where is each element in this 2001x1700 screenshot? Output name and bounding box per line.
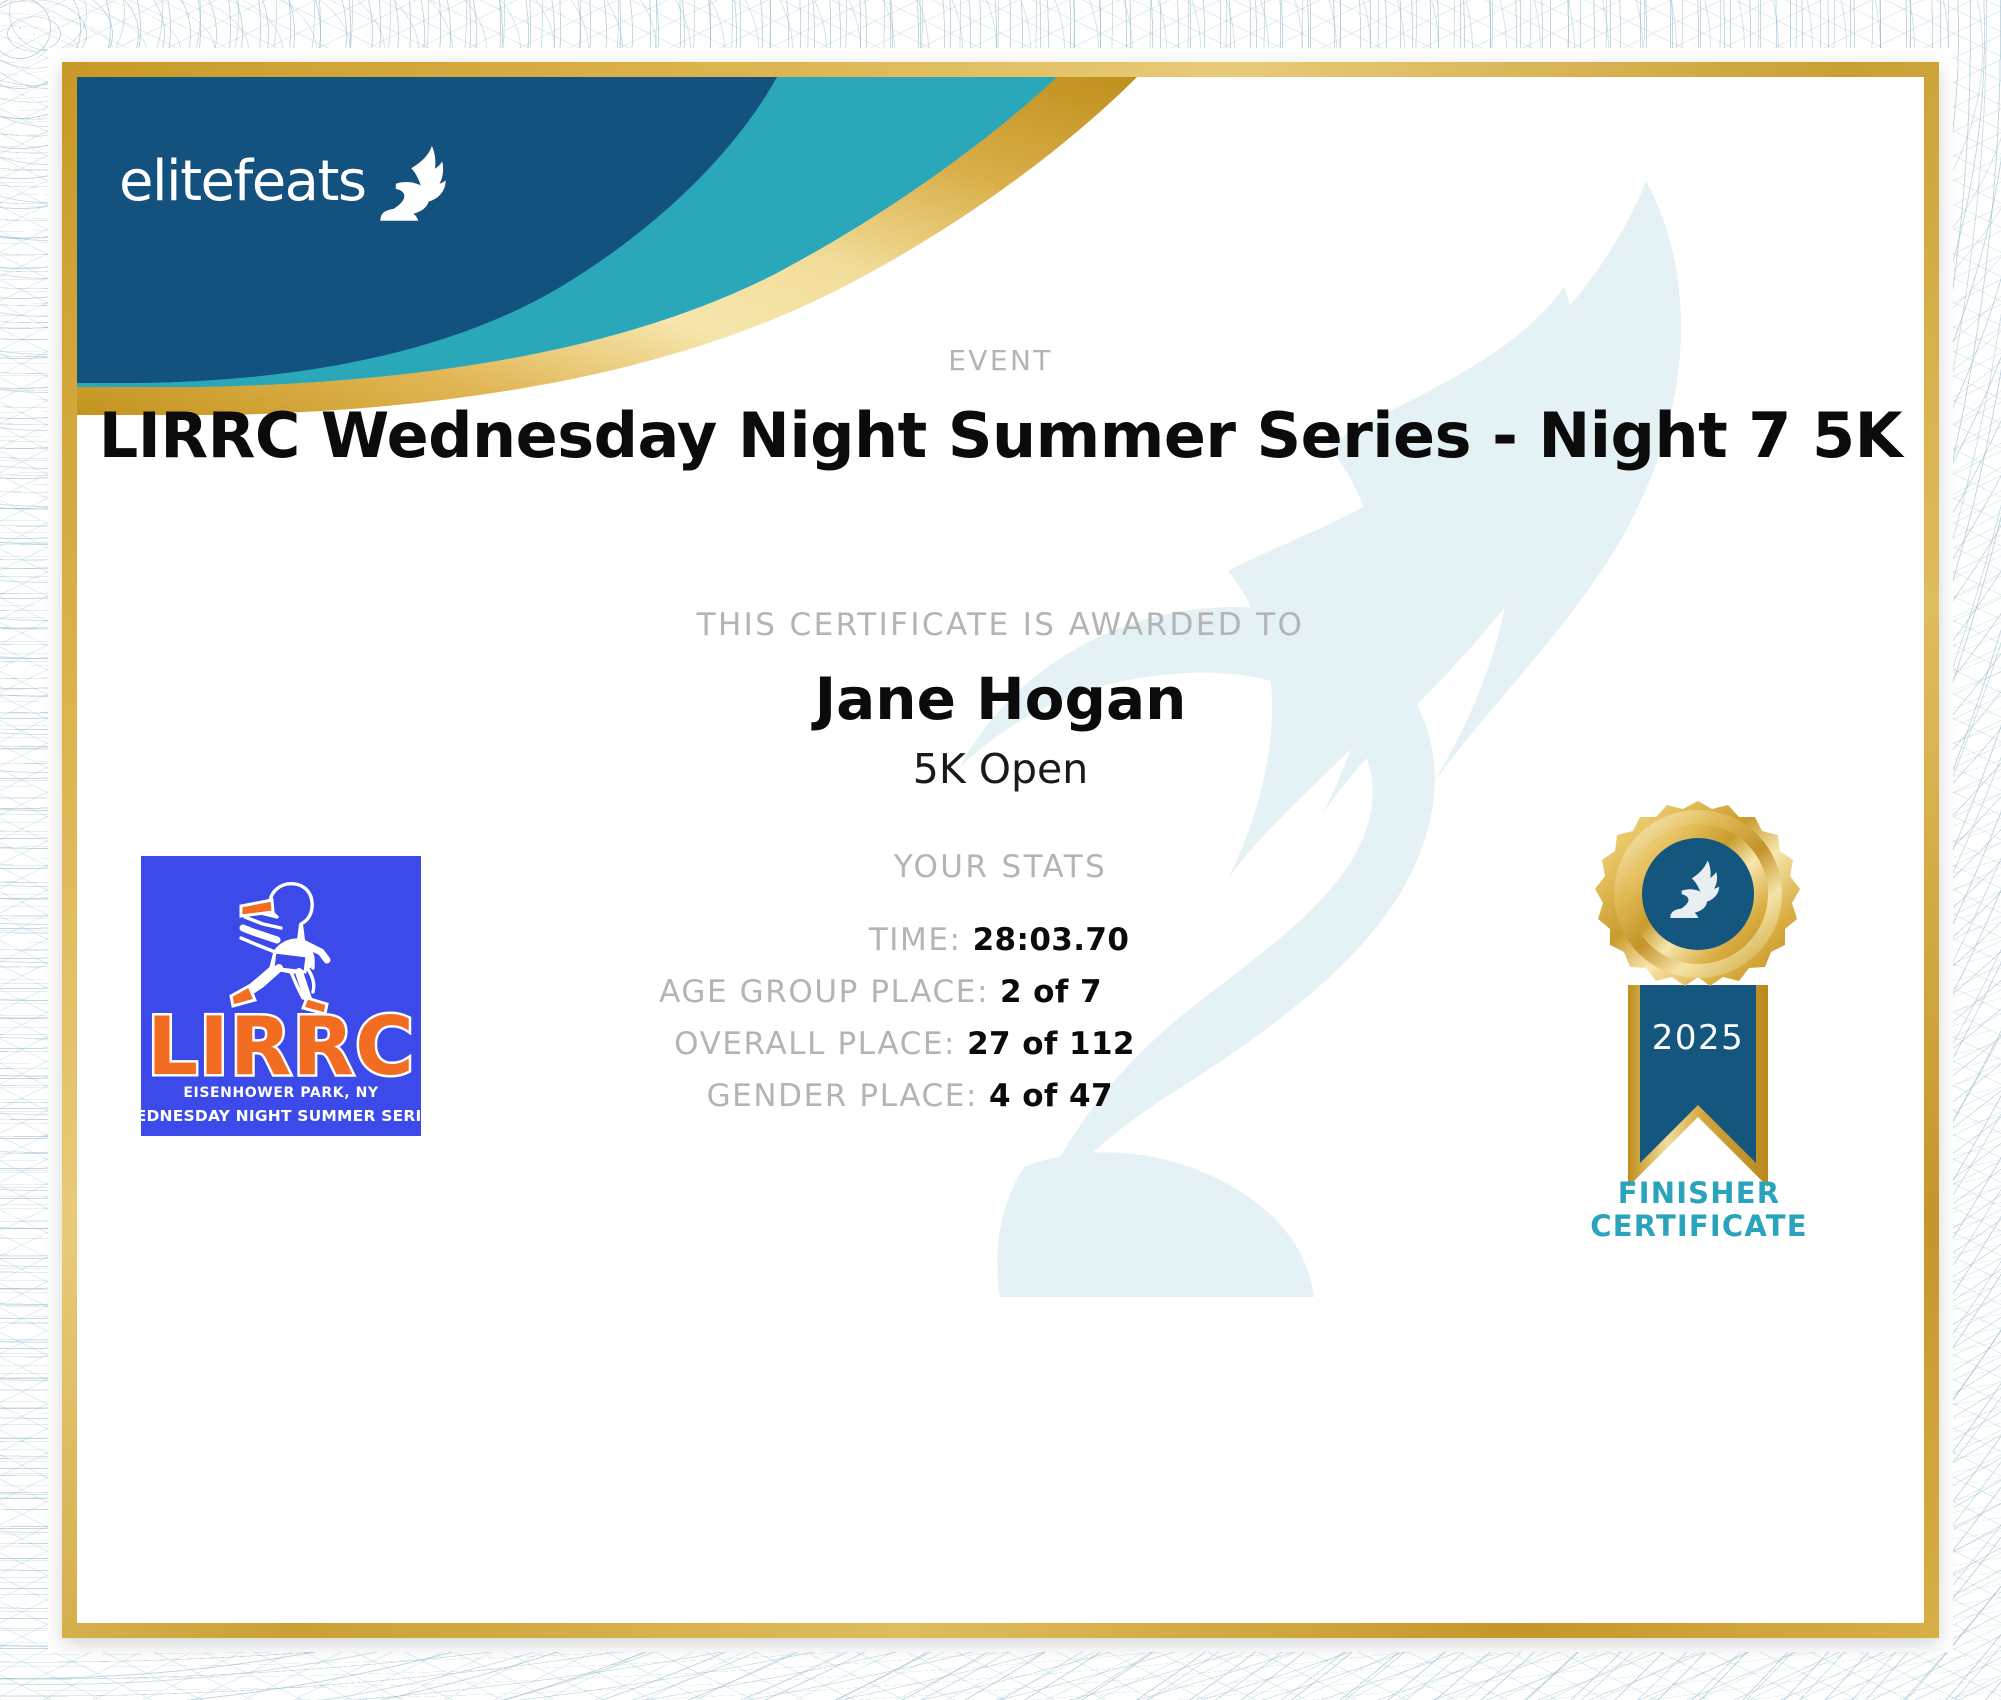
finisher-caption-line-1: FINISHER — [1544, 1177, 1854, 1210]
medal-year: 2025 — [1652, 1018, 1745, 1058]
finisher-certificate-caption: FINISHER CERTIFICATE — [1544, 1177, 1854, 1243]
stat-value-overall-place: 27 of 112 — [967, 1026, 1135, 1062]
stat-value-time: 28:03.70 — [973, 922, 1130, 958]
lirrc-series: WEDNESDAY NIGHT SUMMER SERIES — [141, 1107, 421, 1125]
medal-rosette — [1595, 801, 1800, 986]
certificate-page: elitefeats EVENT LIRRC Wednesday Night S… — [0, 0, 2001, 1700]
lirrc-location: EISENHOWER PARK, NY — [183, 1085, 379, 1101]
lirrc-lettering: LIRRC — [147, 1000, 415, 1093]
recipient-name: Jane Hogan — [77, 665, 1924, 733]
lirrc-logo: LIRRC EISENHOWER PARK, NY WEDNESDAY NIGH… — [141, 856, 421, 1136]
stat-key-time: TIME: — [632, 922, 962, 958]
gold-frame: elitefeats EVENT LIRRC Wednesday Night S… — [62, 62, 1939, 1638]
certificate-content: EVENT LIRRC Wednesday Night Summer Serie… — [77, 77, 1924, 1623]
lirrc-initials: LIRRC — [147, 1000, 415, 1093]
stat-value-age-group-place: 2 of 7 — [1000, 974, 1102, 1010]
recipient-division: 5K Open — [77, 745, 1924, 793]
stat-key-gender-place: GENDER PLACE: — [648, 1078, 978, 1114]
stat-key-age-group-place: AGE GROUP PLACE: — [659, 974, 989, 1010]
finisher-caption-line-2: CERTIFICATE — [1544, 1210, 1854, 1243]
certificate-surface: elitefeats EVENT LIRRC Wednesday Night S… — [77, 77, 1924, 1623]
awarded-to-label: THIS CERTIFICATE IS AWARDED TO — [77, 607, 1924, 643]
stat-value-gender-place: 4 of 47 — [989, 1078, 1113, 1114]
event-label: EVENT — [77, 344, 1924, 377]
event-title: LIRRC Wednesday Night Summer Series - Ni… — [77, 399, 1924, 472]
stat-key-overall-place: OVERALL PLACE: — [626, 1026, 956, 1062]
